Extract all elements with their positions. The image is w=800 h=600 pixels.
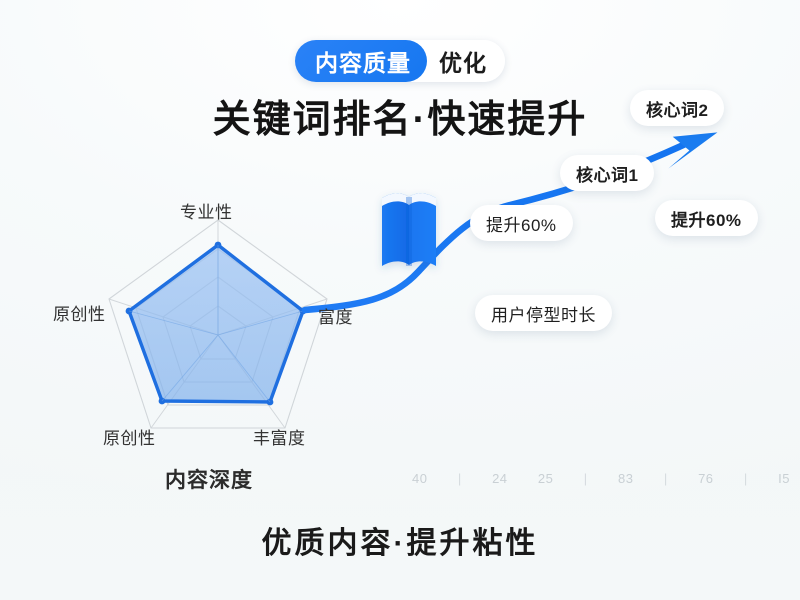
tick-3: 25 [538,471,553,486]
quality-badge[interactable]: 内容质量 优化 [295,40,505,82]
pill-uplift-left[interactable]: 提升60% [470,205,573,241]
radar-label-professional: 专业性 [180,198,233,223]
open-book-icon [382,193,436,266]
tick-1: | [458,471,462,486]
pill-dwell-time[interactable]: 用户停型时长 [475,295,612,331]
tick-9: I5 [778,471,790,486]
radar-label-originality-bottom: 原创性 [103,424,156,449]
tick-2: 24 [492,471,507,486]
poster-canvas: 内容质量 优化 关键词排名·快速提升 优质内容·提升粘性 内容深度 核心词2 核… [0,0,800,600]
radar-data-area [129,245,303,402]
pill-keyword-2[interactable]: 核心词2 [630,90,724,126]
badge-sub-label: 优化 [427,40,505,82]
badge-main-label: 内容质量 [295,40,427,82]
tick-5: 83 [618,471,633,486]
tick-8: | [744,471,748,486]
tick-7: 76 [698,471,713,486]
tick-6: | [664,471,668,486]
tick-4: | [584,471,588,486]
radar-label-richness: 丰富度 [253,424,306,449]
radar-label-originality-left: 原创性 [53,300,106,325]
pill-uplift-right[interactable]: 提升60% [655,200,758,236]
faint-axis-ticks: 40 | 24 25 | 83 | 76 | I5 [412,468,790,488]
tick-0: 40 [412,471,427,486]
content-depth-caption: 内容深度 [165,464,253,494]
bottom-tagline: 优质内容·提升粘性 [0,518,800,562]
radar-label-richness-short: 富度 [318,303,353,328]
pill-keyword-1[interactable]: 核心词1 [560,155,654,191]
